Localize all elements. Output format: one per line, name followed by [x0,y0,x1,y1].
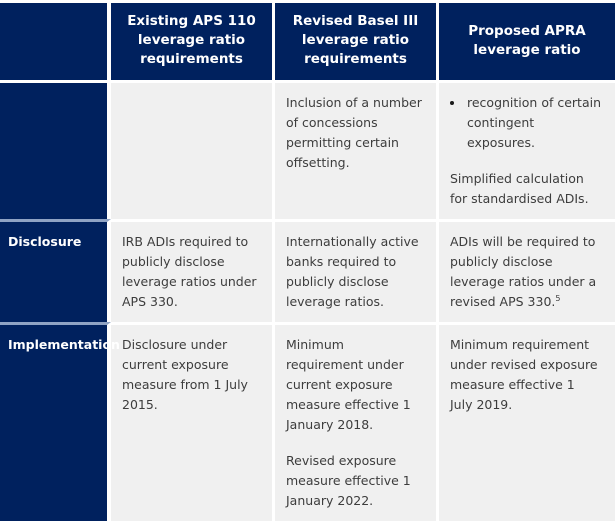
cell-paragraph: Minimum requirement under revised exposu… [450,335,601,415]
cell-existing-aps110-continuation [111,80,275,219]
bullet-list: recognition of certain contingent exposu… [450,93,601,153]
column-header-row-label [0,0,111,80]
cell-revised-basel-iii-continuation: Inclusion of a number of concessions per… [275,80,439,219]
table-row: Disclosure IRB ADIs required to publicly… [0,219,615,322]
footnote-reference: 5 [555,294,560,303]
cell-implementation-existing-aps110: Disclosure under current exposure measur… [111,322,275,521]
row-label-implementation: Implementation [0,322,111,521]
cell-paragraph: Internationally active banks required to… [286,232,422,312]
cell-paragraph: Disclosure under current exposure measur… [122,335,258,415]
row-label-empty [0,80,111,219]
cell-paragraph: IRB ADIs required to publicly disclose l… [122,232,258,312]
cell-paragraph: Revised exposure measure effective 1 Jan… [286,451,422,511]
column-header-proposed-apra: Proposed APRA leverage ratio [439,0,615,80]
column-header-revised-basel-iii: Revised Basel III leverage ratio require… [275,0,439,80]
table-body: Inclusion of a number of concessions per… [0,80,615,521]
table-header: Existing APS 110 leverage ratio requirem… [0,0,615,80]
cell-implementation-proposed-apra: Minimum requirement under revised exposu… [439,322,615,521]
cell-paragraph: Minimum requirement under current exposu… [286,335,422,435]
cell-paragraph: Inclusion of a number of concessions per… [286,93,422,173]
cell-paragraph: Simplified calculation for standardised … [450,169,601,209]
bullet-dot-icon [450,101,454,105]
cell-implementation-revised-basel-iii: Minimum requirement under current exposu… [275,322,439,521]
cell-disclosure-existing-aps110: IRB ADIs required to publicly disclose l… [111,219,275,322]
list-item-label: recognition of certain contingent exposu… [467,95,601,150]
cell-proposed-apra-continuation: recognition of certain contingent exposu… [439,80,615,219]
table-row: Inclusion of a number of concessions per… [0,80,615,219]
column-header-existing-aps110: Existing APS 110 leverage ratio requirem… [111,0,275,80]
cell-paragraph-text: ADIs will be required to publicly disclo… [450,234,596,309]
cell-disclosure-proposed-apra: ADIs will be required to publicly disclo… [439,219,615,322]
table-row: Implementation Disclosure under current … [0,322,615,521]
list-item: recognition of certain contingent exposu… [467,93,601,153]
row-label-disclosure: Disclosure [0,219,111,322]
header-row: Existing APS 110 leverage ratio requirem… [0,0,615,80]
cell-disclosure-revised-basel-iii: Internationally active banks required to… [275,219,439,322]
cell-paragraph: ADIs will be required to publicly disclo… [450,232,601,312]
leverage-ratio-comparison-table: Existing APS 110 leverage ratio requirem… [0,0,615,521]
